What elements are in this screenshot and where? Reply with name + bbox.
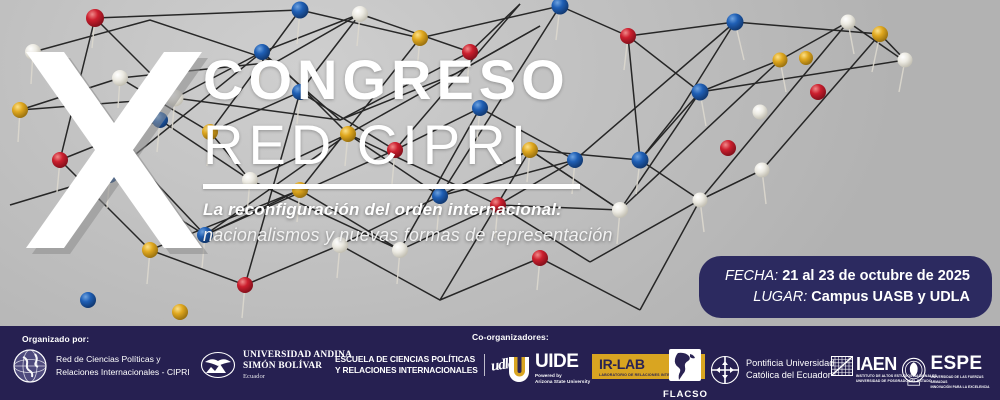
tagline-secondary: nacionalismos y nuevas formas de represe… [203, 225, 803, 246]
event-place-label: LUGAR [753, 289, 803, 305]
flacso-wordmark: FLACSO [663, 389, 708, 400]
espe-wordmark: ESPE [930, 354, 1000, 373]
organized-by-label: Organizado por: [22, 334, 89, 344]
logo-puce-text: Pontificia Universidad Católica del Ecua… [746, 358, 834, 382]
sponsors-footer: Organizado por: Co-organizadores: Red de… [0, 326, 1000, 400]
logo-escuela-udla[interactable]: ESCUELA DE CIENCIAS POLÍTICAS Y RELACION… [335, 354, 514, 377]
espe-tag-line2: INNOVACIÓN PARA LA EXCELENCIA [930, 385, 1000, 390]
logo-cipri[interactable]: Red de Ciencias Políticas y Relaciones I… [12, 348, 190, 384]
coorganizers-label: Co-organizadores: [472, 332, 549, 342]
event-date-label: FECHA [725, 268, 774, 284]
page-title: CONGRESO [203, 52, 803, 108]
cipri-line1: Red de Ciencias Políticas y [56, 353, 190, 366]
headline-block: CONGRESO RED CIPRI La reconfiguración de… [203, 52, 803, 246]
logo-cipri-text: Red de Ciencias Políticas y Relaciones I… [56, 353, 190, 379]
uide-shield-icon [508, 356, 530, 382]
event-place-value: Campus UASB y UDLA [811, 289, 970, 305]
espe-crest-icon [901, 357, 926, 387]
logo-escuela-text: ESCUELA DE CIENCIAS POLÍTICAS Y RELACION… [335, 354, 478, 377]
logo-flacso[interactable]: FLACSO ECUADOR [663, 348, 708, 400]
event-date-line: FECHA: 21 al 23 de octubre de 2025 [725, 266, 970, 287]
uide-tag-line2: Arizona State University [535, 379, 590, 385]
event-info-badge: FECHA: 21 al 23 de octubre de 2025 LUGAR… [699, 256, 992, 318]
logo-puce[interactable]: Pontificia Universidad Católica del Ecua… [710, 355, 834, 385]
page-subtitle: RED CIPRI [203, 114, 803, 177]
logo-uide-text: UIDE Powered by Arizona State University [535, 352, 590, 385]
logo-uasb[interactable]: UNIVERSIDAD ANDINA SIMÓN BOLÍVAR Ecuador [200, 350, 352, 381]
event-place-line: LUGAR: Campus UASB y UDLA [725, 287, 970, 308]
iaen-grid-icon [831, 356, 853, 376]
logo-uide[interactable]: UIDE Powered by Arizona State University [508, 352, 590, 385]
logo-espe-text: ESPE UNIVERSIDAD DE LAS FUERZAS ARMADAS … [930, 354, 1000, 390]
escuela-line1: ESCUELA DE CIENCIAS POLÍTICAS [335, 354, 478, 365]
roman-numeral-x-logo [18, 48, 208, 258]
tagline-primary: La reconfiguración del orden internacion… [203, 200, 803, 220]
globe-icon [12, 348, 48, 384]
uide-wordmark: UIDE [535, 352, 590, 371]
logo-uide-tagline: Powered by Arizona State University [535, 373, 590, 385]
puce-cross-emblem-icon [710, 355, 740, 385]
puce-line2: Católica del Ecuador [746, 370, 834, 382]
condor-mountain-icon [200, 351, 236, 379]
event-date-value: 21 al 23 de octubre de 2025 [782, 268, 970, 284]
puce-line1: Pontificia Universidad [746, 358, 834, 370]
logo-divider [484, 354, 485, 376]
espe-tag-line1: UNIVERSIDAD DE LAS FUERZAS ARMADAS [930, 375, 1000, 385]
cipri-line2: Relaciones Internacionales - CIPRI [56, 366, 190, 379]
congress-banner: CONGRESO RED CIPRI La reconfiguración de… [0, 0, 1000, 400]
logo-espe[interactable]: ESPE UNIVERSIDAD DE LAS FUERZAS ARMADAS … [901, 354, 1000, 390]
latin-america-map-icon [668, 348, 702, 382]
escuela-line2: Y RELACIONES INTERNACIONALES [335, 365, 478, 376]
title-underline-rule [203, 184, 580, 189]
logo-espe-tagline: UNIVERSIDAD DE LAS FUERZAS ARMADAS INNOV… [930, 375, 1000, 390]
